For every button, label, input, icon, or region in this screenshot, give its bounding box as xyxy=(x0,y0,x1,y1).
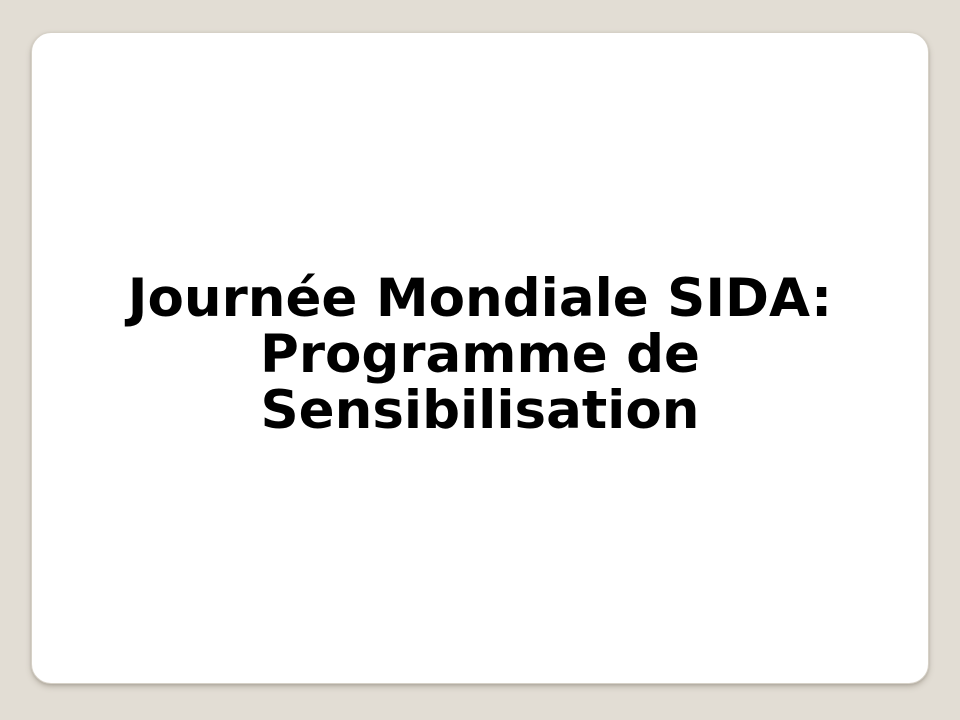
title-line-3: Sensibilisation xyxy=(72,383,888,439)
slide-card[interactable]: Journée Mondiale SIDA: Programme de Sens… xyxy=(31,32,929,684)
slide-title: Journée Mondiale SIDA: Programme de Sens… xyxy=(32,271,928,439)
slide-body-placeholder xyxy=(92,473,868,643)
title-line-2: Programme de xyxy=(72,327,888,383)
slide-viewport: Journée Mondiale SIDA: Programme de Sens… xyxy=(0,0,960,720)
title-line-1: Journée Mondiale SIDA: xyxy=(72,271,888,327)
